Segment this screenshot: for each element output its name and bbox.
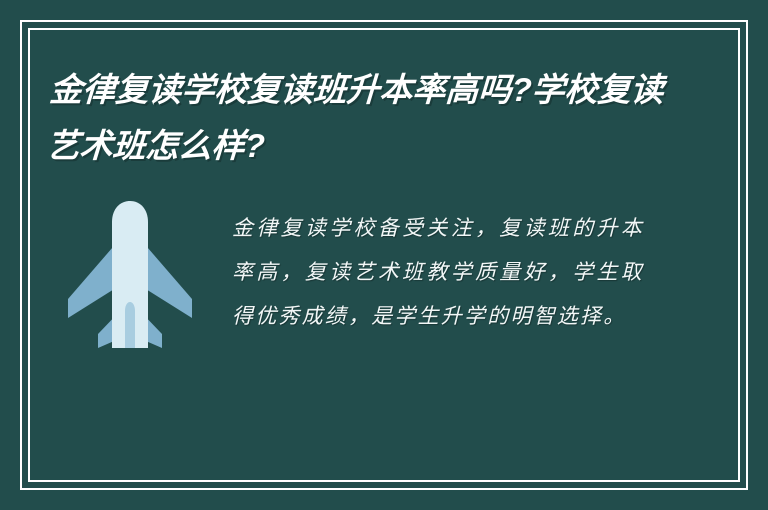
body-paragraph: 金律复读学校备受关注，复读班的升本率高，复读艺术班教学质量好，学生取得优秀成绩，… — [232, 206, 644, 338]
headline-title: 金律复读学校复读班升本率高吗?学校复读艺术班怎么样? — [45, 62, 691, 174]
poster-canvas: 金律复读学校复读班升本率高吗?学校复读艺术班怎么样? 金律复读学校备受关注，复读… — [0, 0, 768, 510]
airplane-icon — [62, 198, 198, 348]
